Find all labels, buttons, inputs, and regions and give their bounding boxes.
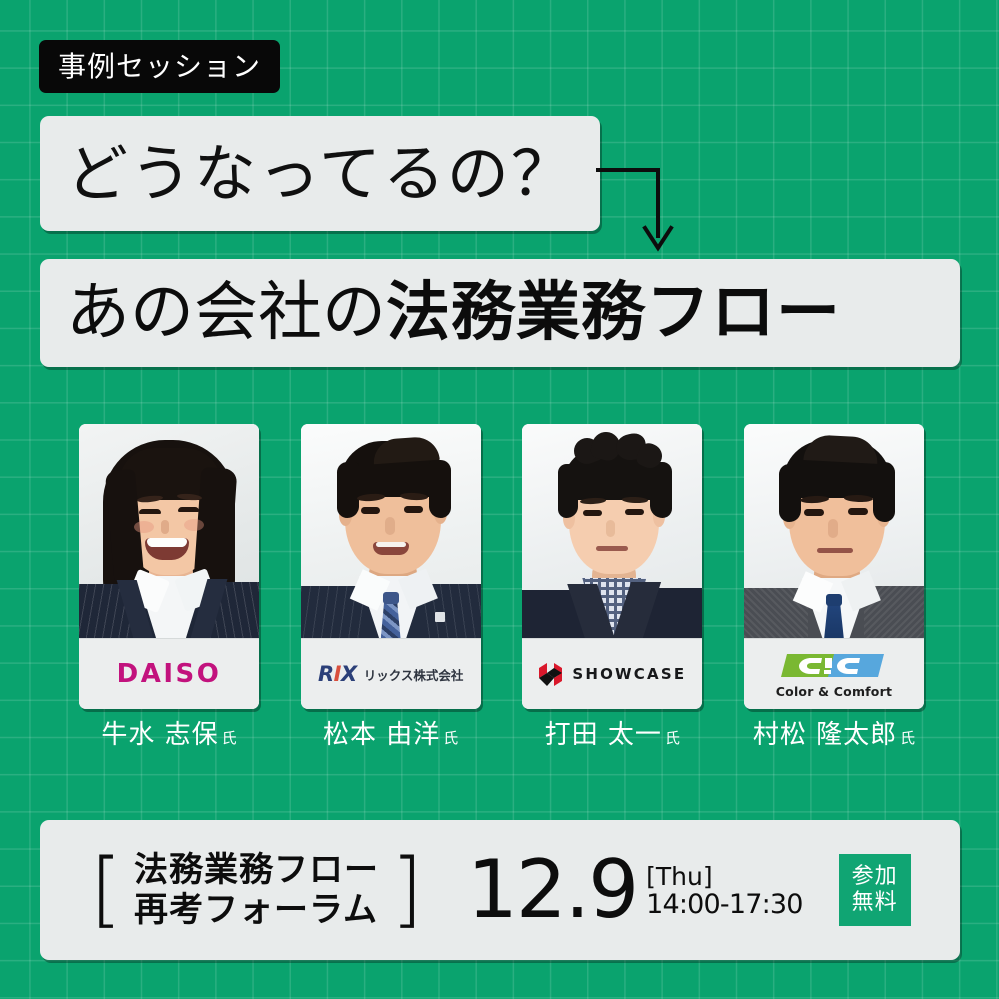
event-date: 12.9	[467, 857, 637, 923]
speaker-name-suffix: 氏	[222, 731, 237, 746]
speaker-name-list: 牛水 志保 氏 松本 由洋 氏 打田 太一 氏 村松 隆太郎 氏	[79, 722, 924, 766]
event-date-block: 12.9 [Thu] 14:00-17:30	[467, 857, 803, 923]
free-badge-line-1: 参加	[852, 865, 898, 889]
company-logo-color-comfort: Color & Comfort	[744, 638, 924, 709]
company-logo-showcase: SHOWCASE	[522, 638, 702, 709]
speaker-name-suffix: 氏	[665, 731, 680, 746]
color-and-comfort-logo-mark	[781, 649, 886, 681]
rix-logo: RIX	[318, 664, 357, 685]
speaker-card: DAISO	[79, 424, 259, 709]
speaker-name-4: 村松 隆太郎 氏	[744, 722, 924, 766]
speaker-name-suffix: 氏	[443, 731, 458, 746]
headline-line-2-lead: あの会社の	[66, 276, 386, 350]
company-logo-daiso: DAISO	[79, 638, 259, 709]
forum-title-line-1: 法務業務フロー	[134, 853, 379, 887]
speaker-card: RIX リックス株式会社	[301, 424, 481, 709]
free-admission-badge: 参加 無料	[839, 854, 911, 926]
event-info-panel: [ 法務業務フロー 再考フォーラム ] 12.9 [Thu] 14:00-17:…	[40, 820, 960, 960]
headline-box-primary: どうなってるの？	[40, 116, 600, 231]
speaker-name-text: 村松 隆太郎	[753, 722, 897, 748]
speaker-name-text: 牛水 志保	[101, 722, 218, 748]
portrait-speaker-2	[301, 424, 481, 638]
event-time: 14:00-17:30	[646, 890, 803, 920]
session-type-badge: 事例セッション	[39, 40, 280, 93]
free-badge-line-2: 無料	[852, 891, 898, 915]
portrait-speaker-1	[79, 424, 259, 638]
speaker-name-text: 松本 由洋	[323, 722, 440, 748]
forum-title: [ 法務業務フロー 再考フォーラム ]	[90, 853, 423, 927]
speaker-card: SHOWCASE	[522, 424, 702, 709]
showcase-logo-text: SHOWCASE	[572, 667, 686, 682]
portrait-speaker-4	[744, 424, 924, 638]
elbow-down-arrow-icon	[596, 166, 676, 258]
speaker-card: Color & Comfort	[744, 424, 924, 709]
session-type-label: 事例セッション	[58, 53, 261, 81]
event-poster: 事例セッション どうなってるの？ あの会社の法務業務フロー	[0, 0, 999, 999]
speaker-name-2: 松本 由洋 氏	[301, 722, 481, 766]
company-logo-rix: RIX リックス株式会社	[301, 638, 481, 709]
speaker-name-suffix: 氏	[900, 731, 915, 746]
speaker-name-1: 牛水 志保 氏	[79, 722, 259, 766]
forum-title-line-2: 再考フォーラム	[134, 893, 379, 927]
event-day-of-week: [Thu]	[646, 863, 803, 891]
rix-logo-subtitle: リックス株式会社	[364, 665, 464, 684]
headline-line-1: どうなってるの？	[40, 143, 575, 205]
speaker-name-3: 打田 太一 氏	[522, 722, 702, 766]
speaker-card-list: DAISO	[79, 424, 924, 709]
bracket-close: ]	[391, 853, 423, 927]
portrait-speaker-3	[522, 424, 702, 638]
headline-line-2-strong: 法務業務フロー	[386, 276, 841, 350]
bracket-open: [	[90, 853, 122, 927]
color-and-comfort-logo-text: Color & Comfort	[776, 684, 892, 699]
showcase-logo-mark	[538, 662, 563, 687]
headline-box-secondary: あの会社の法務業務フロー	[40, 259, 960, 367]
daiso-logo: DAISO	[117, 661, 222, 687]
speaker-name-text: 打田 太一	[545, 722, 662, 748]
